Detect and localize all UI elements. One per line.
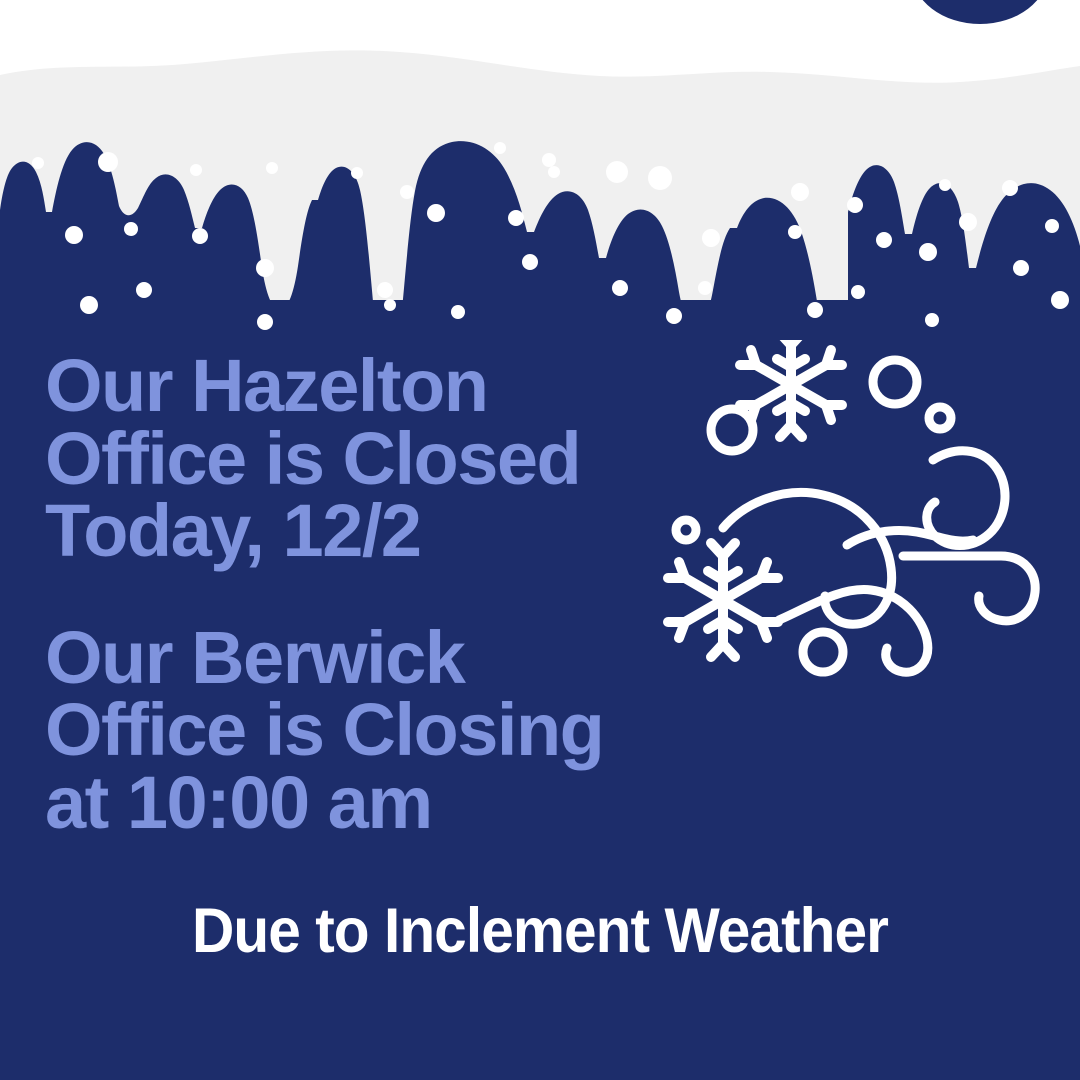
wind-stroke-middle xyxy=(847,531,973,545)
closure-announcement-poster: Our Hazelton Office is Closed Today, 12/… xyxy=(0,0,1080,1080)
ring-large-top xyxy=(873,360,917,404)
ring-medium-left xyxy=(711,409,753,451)
hazelton-closure-message: Our Hazelton Office is Closed Today, 12/… xyxy=(45,350,685,568)
wind-swirl-middle xyxy=(927,451,1005,546)
wind-stroke-long xyxy=(903,556,1035,621)
ring-small-top xyxy=(929,407,951,429)
closure-reason: Due to Inclement Weather xyxy=(38,895,1042,967)
snow-wind-icon xyxy=(655,340,1055,690)
ring-medium-bottom xyxy=(803,632,843,672)
announcement-copy: Our Hazelton Office is Closed Today, 12/… xyxy=(45,350,685,839)
snowflake-upper xyxy=(740,340,842,437)
berwick-closure-message: Our Berwick Office is Closing at 10:00 a… xyxy=(45,622,685,840)
snow-drip-decoration xyxy=(0,0,1080,360)
